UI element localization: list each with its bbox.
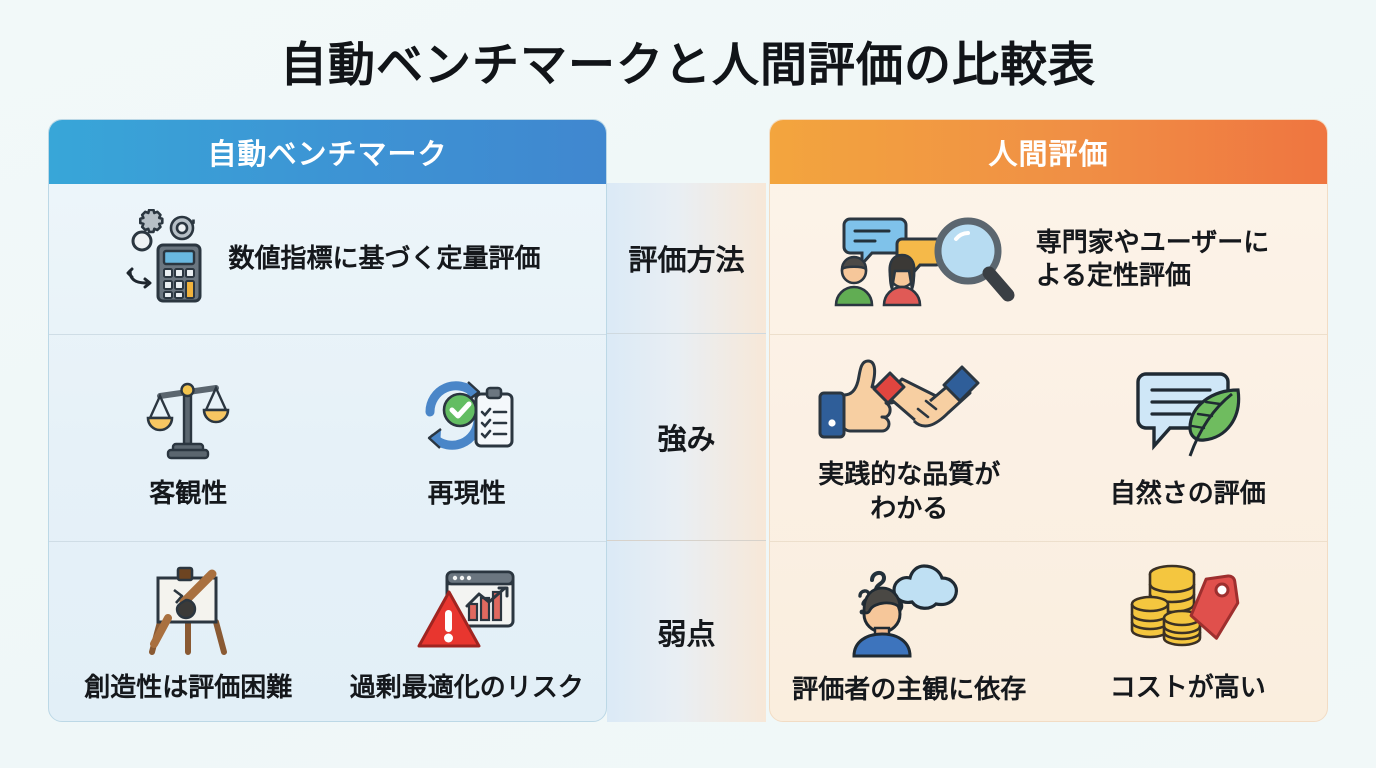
row-label-evaluation-method: 評価方法	[607, 183, 766, 333]
left-cell-weaknesses: 創造性は評価困難	[49, 541, 606, 722]
item-label: 実践的な品質が わかる	[818, 458, 1000, 525]
right-column-body: 専門家やユーザーに よる定性評価	[770, 184, 1327, 722]
refresh-checklist-icon	[416, 366, 518, 467]
coins-pricetag-icon	[1128, 560, 1248, 661]
row-label-strengths: 強み	[607, 333, 766, 540]
easel-paintbrush-icon	[140, 560, 236, 661]
item-label: コストが高い	[1110, 671, 1266, 704]
item-label: 数値指標に基づく定量評価	[228, 242, 540, 275]
gears-calculator-icon	[114, 209, 210, 310]
infographic-canvas: 自動ベンチマークと人間評価の比較表 自動ベンチマーク	[0, 0, 1376, 768]
item-label: 自然さの評価	[1110, 477, 1266, 510]
left-cell-evaluation-method: 数値指標に基づく定量評価	[49, 184, 606, 334]
item: 創造性は評価困難	[68, 560, 308, 704]
item-label: 専門家やユーザーに よる定性評価	[1036, 226, 1269, 293]
right-cell-strengths: 実践的な品質が わかる	[770, 334, 1327, 541]
right-cell-evaluation-method: 専門家やユーザーに よる定性評価	[770, 184, 1327, 334]
item: 評価者の主観に依存	[789, 558, 1029, 706]
item-label: 評価者の主観に依存	[792, 673, 1026, 706]
right-cell-weaknesses: 評価者の主観に依存	[770, 541, 1327, 722]
item: 過剰最適化のリスク	[347, 560, 587, 704]
item: 実践的な品質が わかる	[789, 351, 1029, 525]
people-speech-magnifier-icon	[828, 205, 1018, 314]
left-column-header: 自動ベンチマーク	[49, 120, 606, 184]
item: 客観性	[68, 366, 308, 510]
left-cell-strengths: 客観性	[49, 334, 606, 541]
balance-scale-icon	[140, 366, 236, 467]
item-label: 再現性	[428, 477, 506, 510]
row-label-weaknesses: 弱点	[607, 540, 766, 722]
item: 再現性	[347, 366, 587, 510]
item-label: 過剰最適化のリスク	[350, 671, 584, 704]
item-label: 創造性は評価困難	[84, 671, 292, 704]
thinking-person-icon	[844, 558, 974, 663]
page-title: 自動ベンチマークと人間評価の比較表	[0, 26, 1376, 95]
item-label: 客観性	[149, 477, 227, 510]
center-label-column: 評価方法 強み 弱点	[607, 183, 766, 722]
item: コストが高い	[1068, 560, 1308, 704]
right-column-header: 人間評価	[770, 120, 1327, 184]
left-column-body: 数値指標に基づく定量評価	[49, 184, 606, 722]
left-column-panel: 自動ベンチマーク	[48, 119, 607, 722]
thumbsup-handshake-icon	[814, 351, 1004, 448]
item: 自然さの評価	[1068, 366, 1308, 510]
speech-leaf-icon	[1134, 366, 1242, 467]
item: 専門家やユーザーに よる定性評価	[828, 205, 1269, 314]
warning-chart-icon	[415, 560, 519, 661]
person-left	[836, 257, 872, 305]
item: 数値指標に基づく定量評価	[114, 209, 540, 310]
right-column-panel: 人間評価	[769, 119, 1328, 722]
